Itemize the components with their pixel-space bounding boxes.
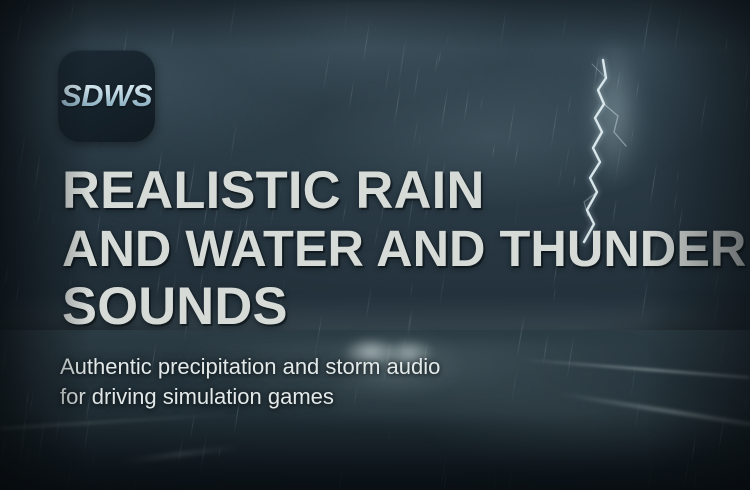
page-title: REALISTIC RAIN AND WATER AND THUNDER SOU… <box>62 162 722 336</box>
headline-line-1: REALISTIC RAIN <box>62 162 715 220</box>
subtitle-line-1: Authentic precipitation and storm audio <box>60 352 580 382</box>
promo-banner: SDWS REALISTIC RAIN AND WATER AND THUNDE… <box>0 0 750 490</box>
subtitle: Authentic precipitation and storm audio … <box>60 352 580 412</box>
subtitle-line-2: for driving simulation games <box>60 382 580 412</box>
sdws-logo: SDWS <box>58 50 155 142</box>
sdws-logo-text: SDWS <box>61 78 152 114</box>
headline-line-3: SOUNDS <box>62 278 715 336</box>
headline-line-2: AND WATER AND THUNDER <box>62 220 715 278</box>
